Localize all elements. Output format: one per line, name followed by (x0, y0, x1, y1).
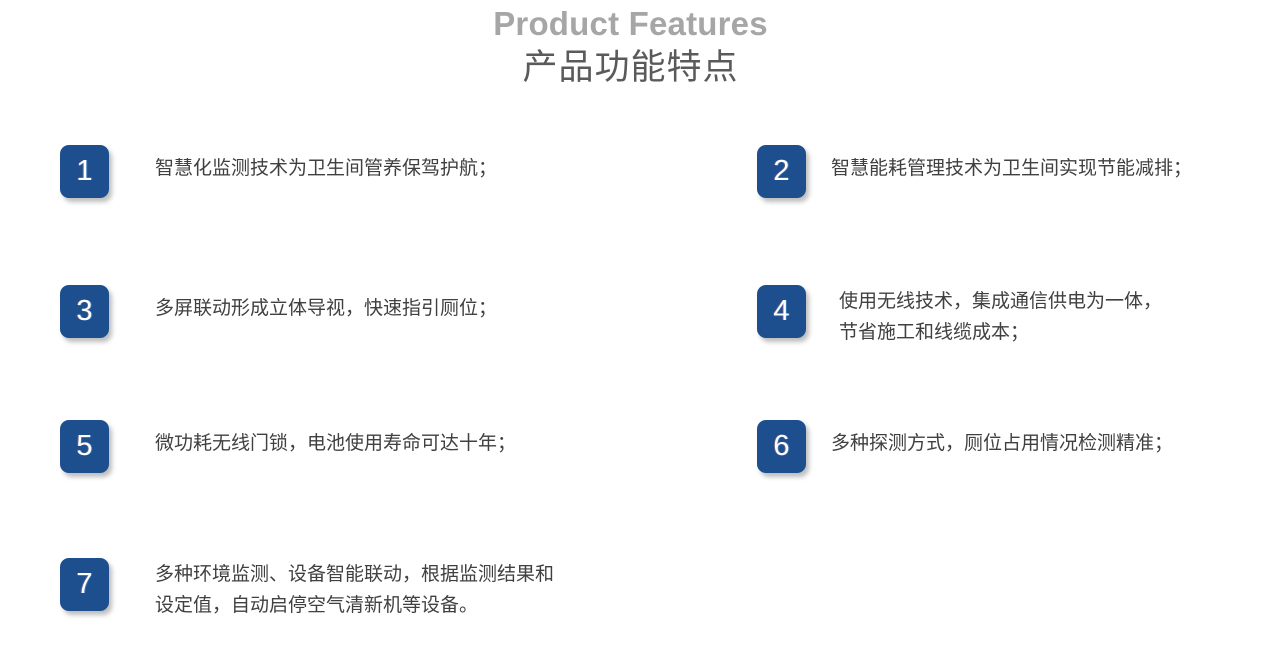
feature-text: 微功耗无线门锁，电池使用寿命可达十年； (155, 428, 516, 459)
feature-list: 1 智慧化监测技术为卫生间管养保驾护航； 2 智慧能耗管理技术为卫生间实现节能减… (0, 130, 1261, 661)
feature-number-badge: 1 (60, 145, 109, 198)
feature-number-badge: 5 (60, 420, 109, 473)
feature-text: 多屏联动形成立体导视，快速指引厕位； (155, 293, 497, 324)
feature-number-badge: 2 (757, 145, 806, 198)
feature-number-badge: 6 (757, 420, 806, 473)
feature-item-5: 5 微功耗无线门锁，电池使用寿命可达十年； (60, 420, 516, 473)
feature-item-2: 2 智慧能耗管理技术为卫生间实现节能减排； (757, 145, 1192, 198)
feature-text: 智慧能耗管理技术为卫生间实现节能减排； (831, 153, 1192, 184)
feature-number-badge: 3 (60, 285, 109, 338)
feature-item-6: 6 多种探测方式，厕位占用情况检测精准； (757, 420, 1173, 473)
feature-text: 多种环境监测、设备智能联动，根据监测结果和 设定值，自动启停空气清新机等设备。 (155, 559, 554, 621)
feature-number-badge: 4 (757, 285, 806, 338)
feature-number-badge: 7 (60, 558, 109, 611)
feature-text: 使用无线技术，集成通信供电为一体， 节省施工和线缆成本； (839, 286, 1162, 348)
feature-item-3: 3 多屏联动形成立体导视，快速指引厕位； (60, 285, 497, 338)
page-title: Product Features 产品功能特点 (0, 4, 1261, 92)
title-chinese: 产品功能特点 (0, 44, 1261, 92)
slide-root: Product Features 产品功能特点 1 智慧化监测技术为卫生间管养保… (0, 0, 1261, 661)
feature-text: 智慧化监测技术为卫生间管养保驾护航； (155, 153, 497, 184)
title-english: Product Features (0, 4, 1261, 44)
feature-text: 多种探测方式，厕位占用情况检测精准； (831, 428, 1173, 459)
feature-item-1: 1 智慧化监测技术为卫生间管养保驾护航； (60, 145, 497, 198)
feature-item-7: 7 多种环境监测、设备智能联动，根据监测结果和 设定值，自动启停空气清新机等设备… (60, 558, 554, 621)
feature-item-4: 4 使用无线技术，集成通信供电为一体， 节省施工和线缆成本； (757, 285, 1162, 348)
